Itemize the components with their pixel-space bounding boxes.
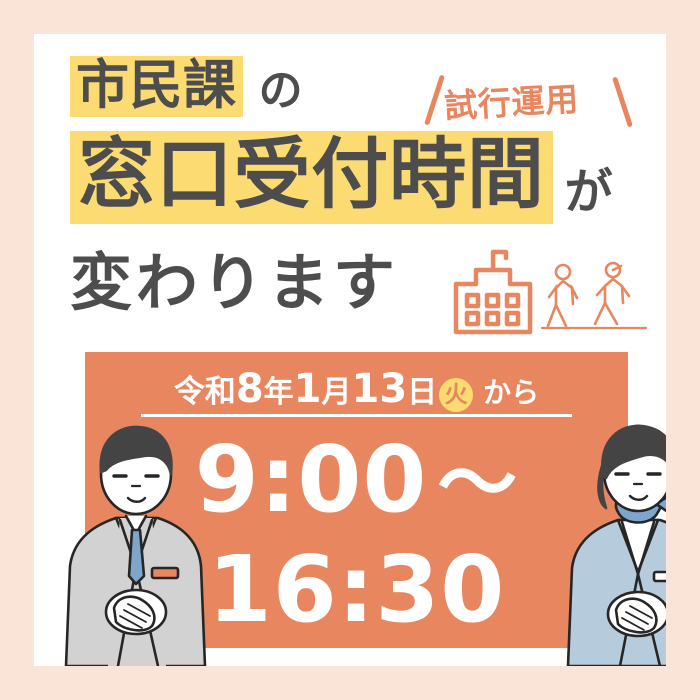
walking-people-icon [542,263,646,328]
headline-particle-no: の [259,69,303,117]
icon-group [450,248,650,340]
poster-canvas: 市民課 の 試行運用 窓口受付時間 が 変わります [34,34,666,666]
headline-particle-ga: が [565,168,613,224]
weekday-badge: 火 [439,378,473,412]
date-era: 令和 [174,374,236,410]
headline-highlight-madoguchi-uketsuke-jikan: 窓口受付時間 [70,131,553,224]
date-day-unit: 日 [407,375,437,410]
headline-line-1: 市民課 の [70,56,303,117]
closing-time: 16:30 [208,536,505,643]
trial-operation-label: 試行運用 [443,72,580,127]
date-from: から [483,376,539,409]
date-month-unit: 月 [322,375,352,410]
slash-left-icon [424,74,445,125]
date-year-unit: 年 [264,375,294,410]
city-hall-icon [456,252,530,332]
female-staff-bowing [556,416,666,666]
effective-date-line: 令和8年1月13日火から [85,366,628,415]
headline-kawarimasu: 変わります [70,252,399,318]
headline-highlight-shimin-ka: 市民課 [70,56,243,117]
icon-group-svg [450,248,650,340]
female-staff-svg [556,416,666,666]
male-staff-svg [48,416,218,666]
headline-line-2: 窓口受付時間 が [70,131,613,224]
time-range-mark: ～ [437,437,518,530]
headline-line-3: 変わります [70,252,399,318]
slash-right-icon [612,76,633,127]
date-day: 13 [352,366,408,412]
male-staff-bowing [48,416,218,666]
poster-frame: 市民課 の 試行運用 窓口受付時間 が 変わります [0,0,700,700]
opening-time: 9:00 [195,426,428,533]
trial-operation-badge: 試行運用 [402,60,637,138]
date-month: 1 [294,366,322,412]
date-year: 8 [236,366,264,412]
